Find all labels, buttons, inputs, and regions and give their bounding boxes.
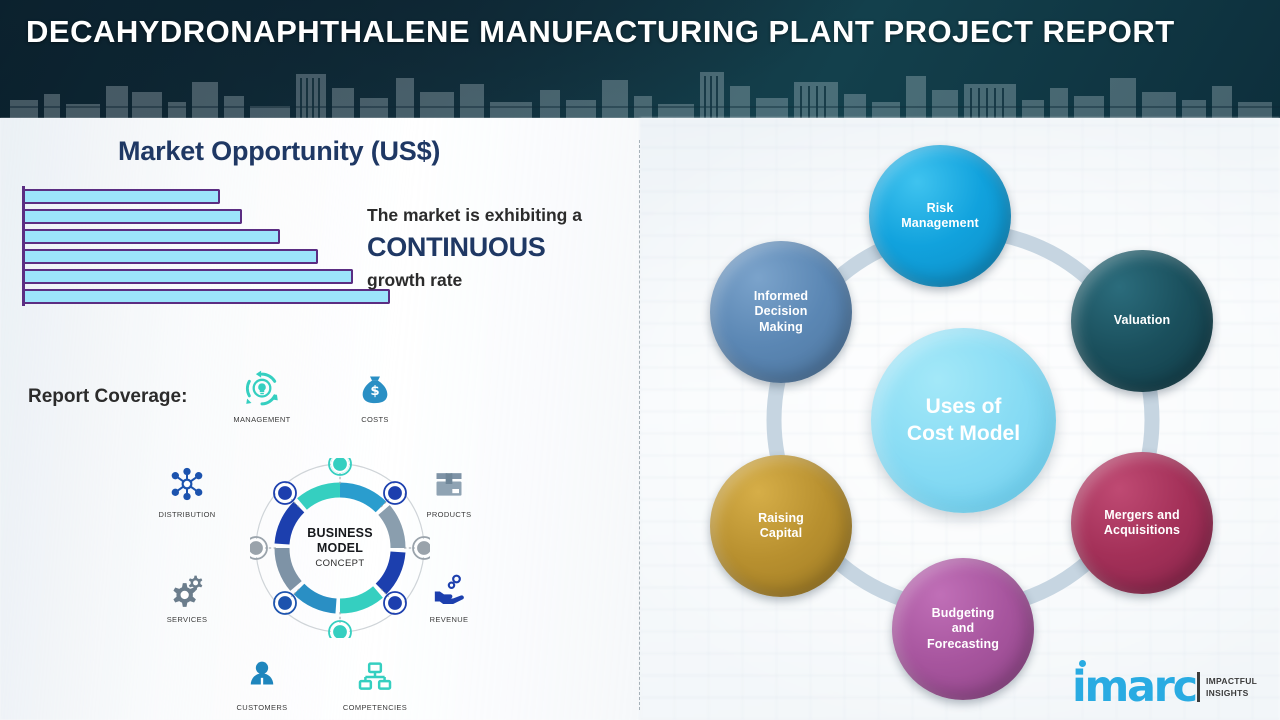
- coverage-item-costs: $ COSTS: [320, 366, 430, 424]
- node-raising-capital[interactable]: Raising Capital: [710, 455, 852, 597]
- org-chart-icon: [320, 654, 430, 700]
- node-valuation[interactable]: Valuation: [1071, 250, 1213, 392]
- coverage-label-services: SERVICES: [132, 615, 242, 624]
- node-informed-decision-making[interactable]: Informed Decision Making: [710, 241, 852, 383]
- city-skyline-icon: [0, 56, 1280, 118]
- uses-of-cost-model-center[interactable]: Uses of Cost Model: [871, 328, 1056, 513]
- coverage-item-customers: CUSTOMERS: [207, 654, 317, 712]
- market-opportunity-title: Market Opportunity (US$): [118, 136, 440, 167]
- chart-bar-4: [25, 249, 318, 264]
- page-title: DECAHYDRONAPHTHALENE MANUFACTURING PLANT…: [26, 10, 1186, 54]
- market-opportunity-bar-chart: [22, 186, 422, 306]
- left-panel: Market Opportunity (US$) The market is e…: [0, 118, 639, 720]
- chart-bar-2: [25, 209, 242, 224]
- node-informed-decision-making-label: Informed Decision Making: [754, 289, 808, 335]
- header-banner: DECAHYDRONAPHTHALENE MANUFACTURING PLANT…: [0, 0, 1280, 118]
- chart-bar-1: [25, 189, 220, 204]
- growth-statement: The market is exhibiting a CONTINUOUS gr…: [367, 203, 637, 293]
- money-bag-icon: $: [320, 366, 430, 412]
- coverage-item-distribution: DISTRIBUTION: [132, 461, 242, 519]
- logo-divider: [1197, 672, 1200, 702]
- coverage-label-customers: CUSTOMERS: [207, 703, 317, 712]
- node-valuation-label: Valuation: [1114, 313, 1170, 328]
- imarc-logo[interactable]: imarc IMPACTFUL INSIGHTS: [1072, 660, 1262, 712]
- uses-of-cost-model-label: Uses of Cost Model: [907, 394, 1020, 447]
- gears-icon: [132, 566, 242, 612]
- logo-wordmark: imarc: [1072, 666, 1196, 709]
- logo-tagline: IMPACTFUL INSIGHTS: [1206, 675, 1257, 699]
- coverage-label-costs: COSTS: [320, 415, 430, 424]
- node-risk-management[interactable]: Risk Management: [869, 145, 1011, 287]
- coverage-label-distribution: DISTRIBUTION: [132, 510, 242, 519]
- coverage-item-services: SERVICES: [132, 566, 242, 624]
- node-budgeting-forecasting[interactable]: Budgeting and Forecasting: [892, 558, 1034, 700]
- coverage-item-management: MANAGEMENT: [207, 366, 317, 424]
- user-group-icon: [207, 654, 317, 700]
- chart-bar-3: [25, 229, 280, 244]
- chart-bar-6: [25, 289, 390, 304]
- node-mergers-acquisitions[interactable]: Mergers and Acquisitions: [1071, 452, 1213, 594]
- growth-line-1: The market is exhibiting a: [367, 203, 637, 227]
- business-model-ring: [250, 458, 430, 638]
- coverage-label-management: MANAGEMENT: [207, 415, 317, 424]
- chart-bar-5: [25, 269, 353, 284]
- growth-line-3: growth rate: [367, 267, 637, 293]
- coverage-item-competencies: COMPETENCIES: [320, 654, 430, 712]
- svg-text:$: $: [370, 384, 379, 399]
- slide-root: DECAHYDRONAPHTHALENE MANUFACTURING PLANT…: [0, 0, 1280, 720]
- growth-line-2: CONTINUOUS: [367, 227, 637, 267]
- slide-body: Market Opportunity (US$) The market is e…: [0, 118, 1280, 720]
- node-budgeting-forecasting-label: Budgeting and Forecasting: [927, 606, 999, 652]
- node-risk-management-label: Risk Management: [901, 201, 978, 232]
- business-model-diagram: MANAGEMENT $ COSTS: [130, 366, 530, 720]
- node-mergers-acquisitions-label: Mergers and Acquisitions: [1104, 508, 1180, 539]
- network-nodes-icon: [132, 461, 242, 507]
- chart-bars: [25, 186, 415, 306]
- coverage-label-competencies: COMPETENCIES: [320, 703, 430, 712]
- recycle-bulb-icon: [207, 366, 317, 412]
- right-panel: Risk Management Valuation Mergers and Ac…: [640, 118, 1280, 720]
- node-raising-capital-label: Raising Capital: [758, 511, 804, 542]
